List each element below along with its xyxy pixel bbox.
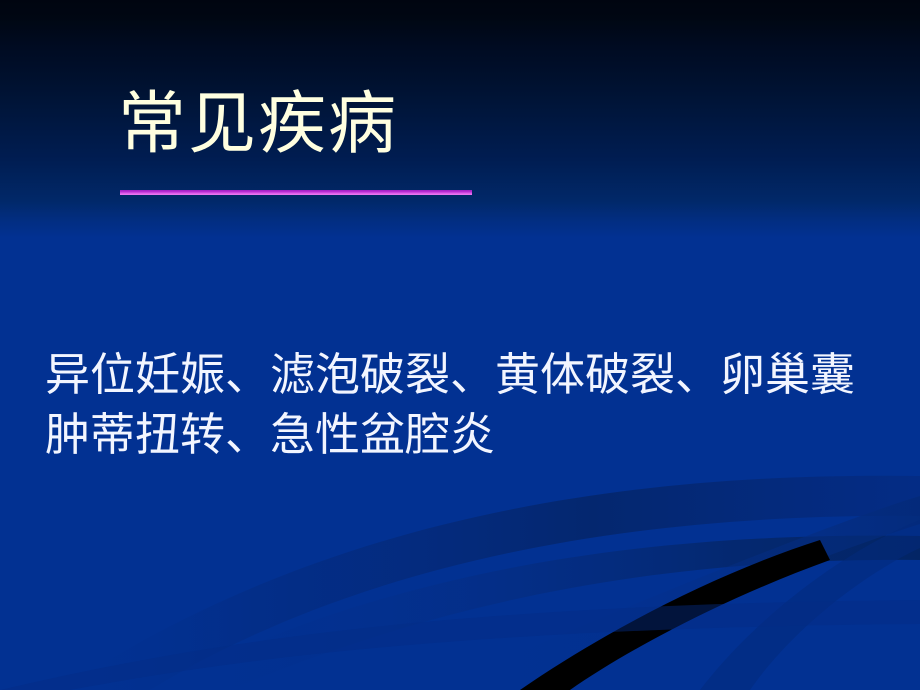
presentation-slide: 常见疾病 异位妊娠、滤泡破裂、黄体破裂、卵巢囊肿蒂扭转、急性盆腔炎	[0, 0, 920, 690]
page-title: 常见疾病	[118, 88, 818, 162]
body-paragraph: 异位妊娠、滤泡破裂、黄体破裂、卵巢囊肿蒂扭转、急性盆腔炎	[45, 345, 895, 465]
title-block: 常见疾病	[118, 88, 818, 162]
title-underline-rule	[120, 190, 472, 195]
body-block: 异位妊娠、滤泡破裂、黄体破裂、卵巢囊肿蒂扭转、急性盆腔炎	[45, 345, 895, 465]
